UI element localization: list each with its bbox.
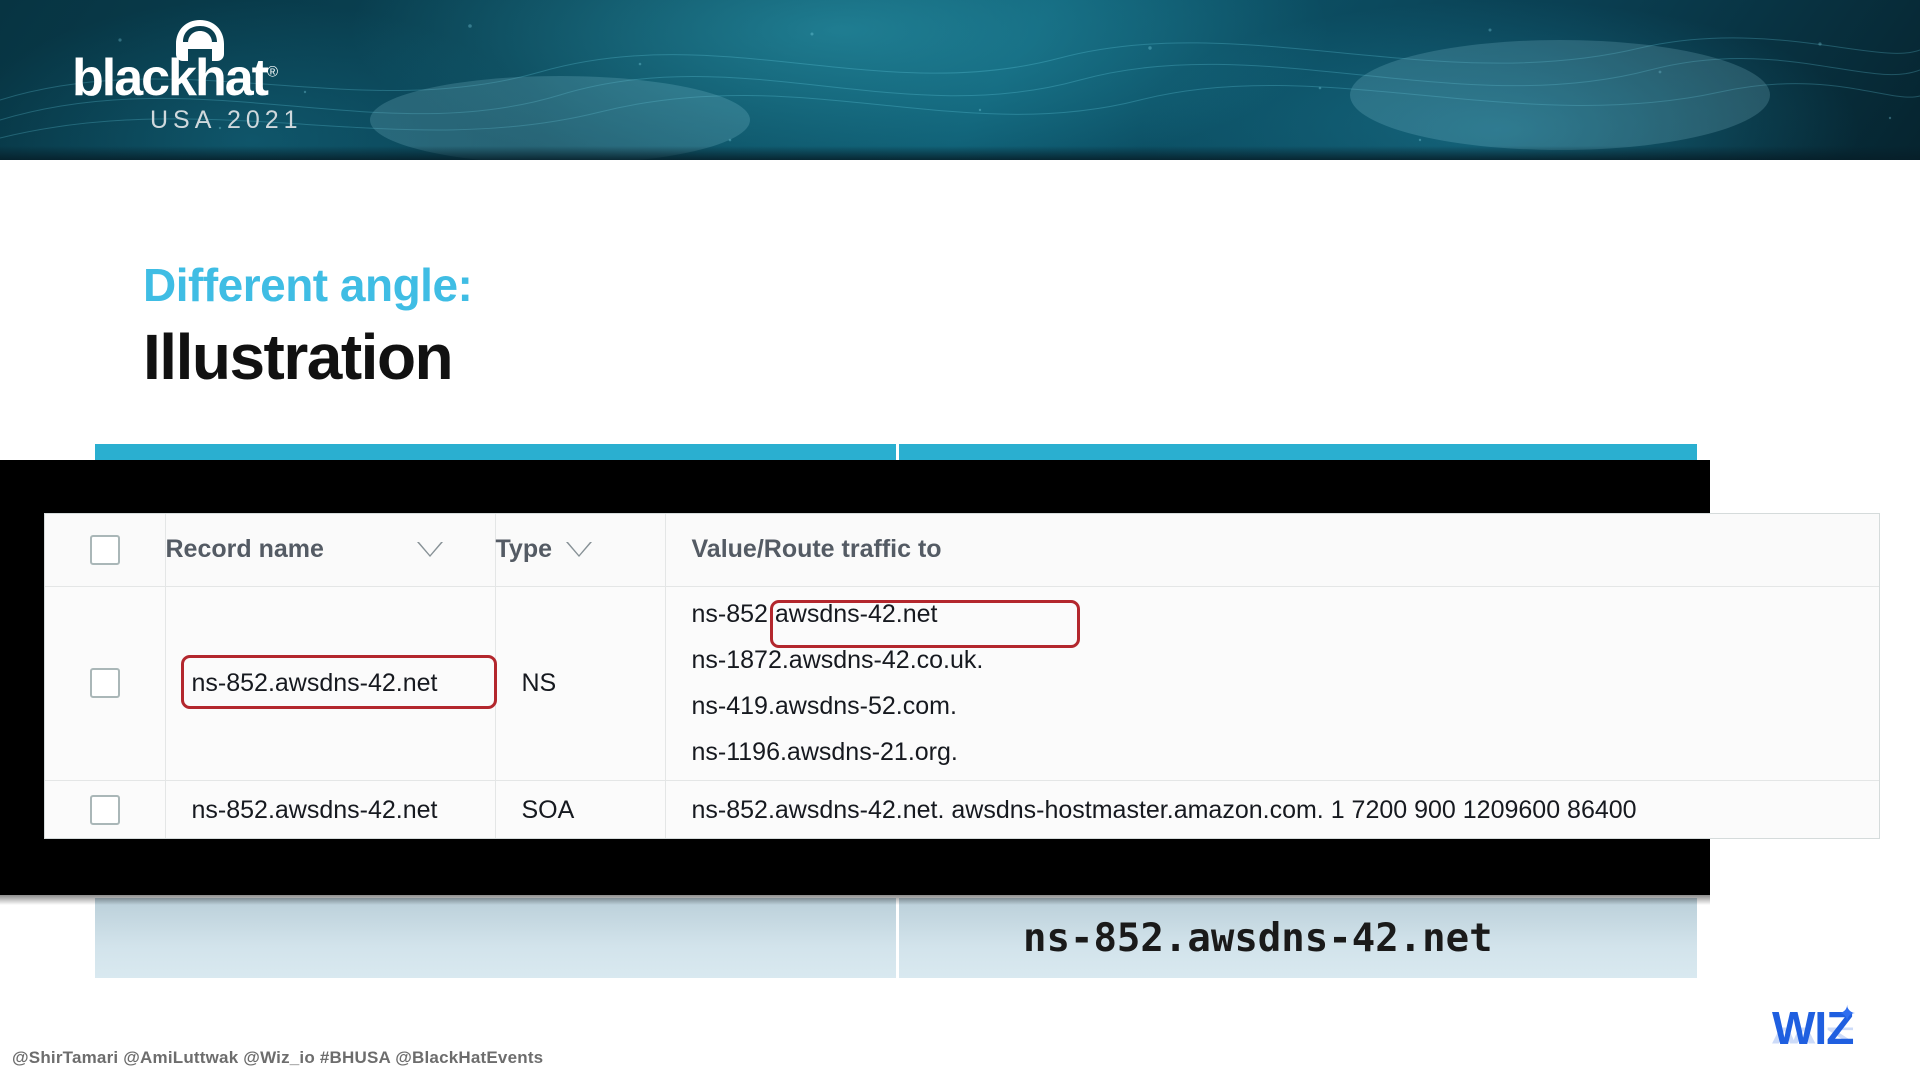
column-header-type[interactable]: Type <box>495 514 665 586</box>
callout-mono-value: ns-852.awsdns-42.net <box>1023 916 1493 961</box>
records-table: Record name Type <box>45 514 1879 839</box>
column-header-record-name[interactable]: Record name <box>165 514 495 586</box>
cell-value: ns-852.awsdns-42.net ns-1872.awsdns-42.c… <box>665 586 1879 780</box>
cell-record-name-text: ns-852.awsdns-42.net <box>166 796 495 825</box>
column-header-select-all[interactable] <box>45 514 165 586</box>
table-row[interactable]: ns-852.awsdns-42.net NS ns-852.awsdns-42… <box>45 586 1879 780</box>
row-select-cell[interactable] <box>45 780 165 839</box>
cell-value: ns-852.awsdns-42.net. awsdns-hostmaster.… <box>665 780 1879 839</box>
sort-descending-triangle-icon[interactable] <box>417 542 443 557</box>
cell-record-name: ns-852.awsdns-42.net <box>165 780 495 839</box>
list-item: ns-1872.awsdns-42.co.uk. <box>692 637 1880 683</box>
column-header-value-label: Value/Route traffic to <box>692 535 942 564</box>
slide-root: blackhat® USA 2021 Different angle: Illu… <box>0 0 1920 1080</box>
cell-record-name-text: ns-852.awsdns-42.net <box>166 669 495 698</box>
sort-descending-triangle-icon[interactable] <box>566 542 592 557</box>
blackhat-wordmark-text: blackhat <box>72 49 267 107</box>
column-header-type-label: Type <box>496 535 553 564</box>
table-header-row: Record name Type <box>45 514 1879 586</box>
row-checkbox[interactable] <box>90 668 120 698</box>
records-table-body: ns-852.awsdns-42.net NS ns-852.awsdns-42… <box>45 586 1879 839</box>
column-header-record-name-label: Record name <box>166 535 324 564</box>
records-table-head: Record name Type <box>45 514 1879 586</box>
screenshot-overlay-shadow <box>0 895 1710 905</box>
banner-bottom-fade <box>0 146 1920 160</box>
header-banner: blackhat® USA 2021 <box>0 0 1920 160</box>
wiz-wordmark-reflection: WIZ <box>1772 1022 1853 1049</box>
cell-type-text: SOA <box>496 796 665 825</box>
slide-kicker: Different angle: <box>143 258 472 312</box>
table-row[interactable]: ns-852.awsdns-42.net SOA ns-852.awsdns-4… <box>45 780 1879 839</box>
select-all-checkbox[interactable] <box>90 535 120 565</box>
cell-record-name: ns-852.awsdns-42.net <box>165 586 495 780</box>
list-item: ns-1196.awsdns-21.org. <box>692 729 1880 775</box>
cell-value-text: ns-852.awsdns-42.net. awsdns-hostmaster.… <box>666 796 1880 825</box>
row-checkbox[interactable] <box>90 795 120 825</box>
callout-panel-left-cell <box>95 898 896 978</box>
route53-records-table: Record name Type <box>44 513 1880 839</box>
row-select-cell[interactable] <box>45 586 165 780</box>
blackhat-logo: blackhat® USA 2021 <box>72 18 322 136</box>
blackhat-edition-label: USA 2021 <box>150 106 303 135</box>
cell-type: SOA <box>495 780 665 839</box>
callout-panel-right-cell: ns-852.awsdns-42.net <box>899 898 1697 978</box>
registered-mark: ® <box>267 64 276 81</box>
cell-type: NS <box>495 586 665 780</box>
blackhat-wordmark: blackhat® <box>72 52 322 104</box>
footer-social-handles: @ShirTamari @AmiLuttwak @Wiz_io #BHUSA @… <box>12 1048 543 1068</box>
slide-title: Illustration <box>143 320 452 394</box>
cell-type-text: NS <box>496 669 665 698</box>
column-header-value[interactable]: Value/Route traffic to <box>665 514 1879 586</box>
wiz-logo: WIZ ✦ WIZ <box>1772 1005 1892 1065</box>
list-item: ns-852.awsdns-42.net <box>692 591 1880 637</box>
callout-panel: ns-852.awsdns-42.net <box>95 898 1697 978</box>
value-list: ns-852.awsdns-42.net ns-1872.awsdns-42.c… <box>666 591 1880 775</box>
list-item: ns-419.awsdns-52.com. <box>692 683 1880 729</box>
